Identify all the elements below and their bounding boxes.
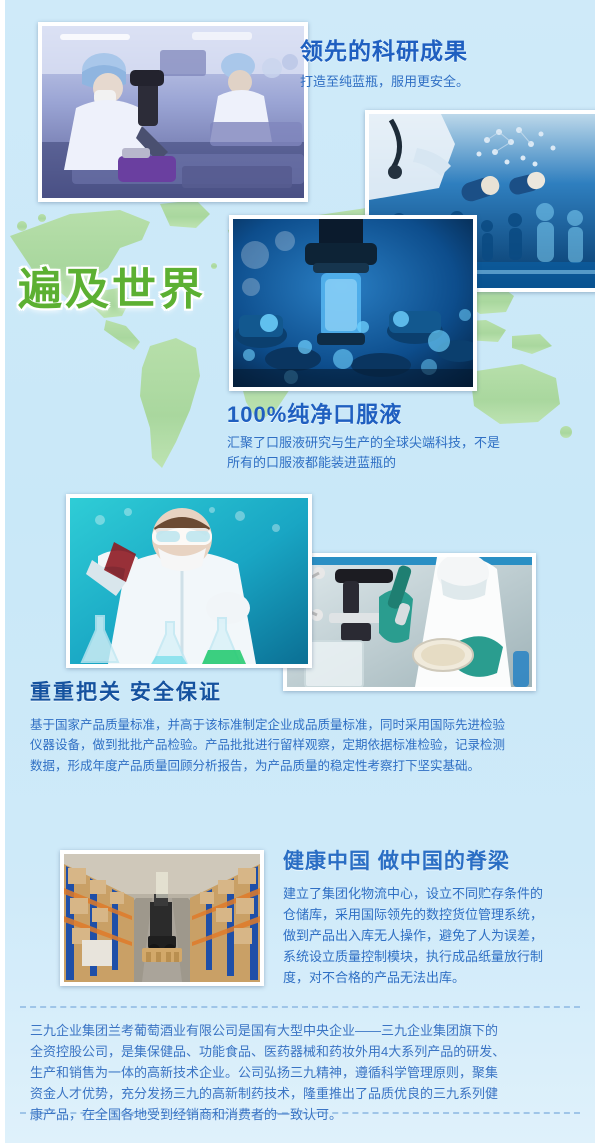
section-health-china: 健康中国 做中国的脊梁 建立了集团化物流中心，设立不同贮存条件的 仓储库，采用国…	[283, 845, 593, 988]
photo-chemist-flasks	[66, 494, 312, 668]
section-research: 领先的科研成果 打造至纯蓝瓶，服用更安全。	[300, 32, 590, 92]
quality-body-line2: 仪器设备，做到批批产品检验。产品批批进行留样观察，定期依据标准检验，记录检测	[30, 735, 575, 755]
world-heading: 遍及世界	[18, 253, 268, 317]
divider-top	[20, 1006, 580, 1008]
section-oral-liquid: 100%纯净口服液 汇聚了口服液研究与生产的全球尖端科技，不是 所有的口服液都能…	[227, 397, 587, 473]
oral-liquid-heading: 100%纯净口服液	[227, 397, 587, 429]
company-body-line1: 三九企业集团兰考葡萄酒业有限公司是国有大型中央企业——三九企业集团旗下的	[30, 1020, 575, 1041]
photo-lab-microscope	[38, 22, 308, 202]
oral-liquid-body-line1: 汇聚了口服液研究与生产的全球尖端科技，不是	[227, 433, 587, 453]
section-world: 遍及世界	[18, 253, 268, 317]
quality-heading: 重重把关 安全保证	[30, 676, 575, 706]
company-body-line2: 全资控股公司，是集保健品、功能食品、医药器械和药妆外用4大系列产品的研发、	[30, 1041, 575, 1062]
health-china-body-line3: 做到产品出入库无人操作，避免了人为误差，	[283, 925, 593, 946]
health-china-body-line1: 建立了集团化物流中心，设立不同贮存条件的	[283, 883, 593, 904]
quality-body-line3: 数据，形成年度产品质量回顾分析报告，为产品质量的稳定性考察打下坚实基础。	[30, 756, 575, 776]
company-body-line5: 康产品，在全国各地受到经销商和消费者的一致认可。	[30, 1104, 575, 1125]
photo-petri-dish	[283, 553, 536, 691]
health-china-heading: 健康中国 做中国的脊梁	[283, 845, 593, 875]
product-detail-page: 领先的科研成果 打造至纯蓝瓶，服用更安全。 遍及世界 100%纯净口服液 汇聚了…	[0, 0, 600, 1143]
section-quality: 重重把关 安全保证 基于国家产品质量标准，并高于该标准制定企业成品质量标准，同时…	[30, 676, 575, 776]
health-china-body-line2: 仓储库，采用国际领先的数控货位管理系统，	[283, 904, 593, 925]
photo-warehouse	[60, 850, 264, 986]
section-company-profile: 三九企业集团兰考葡萄酒业有限公司是国有大型中央企业——三九企业集团旗下的 全资控…	[30, 1020, 575, 1125]
company-body-line3: 生产和销售为一体的高新技术企业。公司弘扬三九精神，遵循科学管理原则，聚集	[30, 1062, 575, 1083]
health-china-body-line4: 系统设立质量控制模块，执行成品纸量放行制	[283, 946, 593, 967]
research-heading: 领先的科研成果	[300, 32, 590, 66]
quality-body-line1: 基于国家产品质量标准，并高于该标准制定企业成品质量标准，同时采用国际先进检验	[30, 715, 575, 735]
oral-liquid-body-line2: 所有的口服液都能装进蓝瓶的	[227, 453, 587, 473]
health-china-body-line5: 度，对不合格的产品无法出库。	[283, 967, 593, 988]
company-body-line4: 资金人才优势，充分发扬三九的高新制药技术，隆重推出了品质优良的三九系列健	[30, 1083, 575, 1104]
research-body: 打造至纯蓝瓶，服用更安全。	[300, 72, 590, 92]
